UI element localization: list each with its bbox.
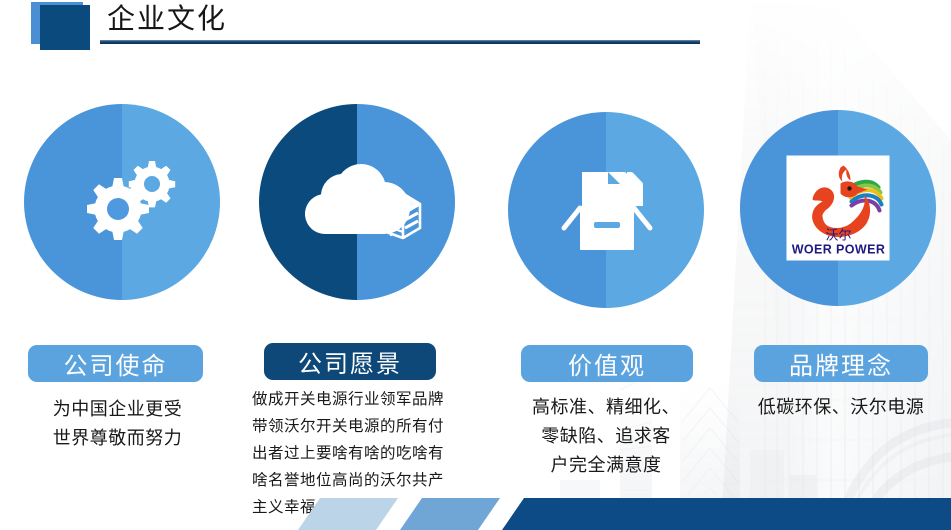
gears-icon: [24, 104, 220, 300]
logo-cn-text: 沃尔: [825, 227, 851, 242]
woer-power-logo-icon: 沃尔 WOER POWER: [787, 156, 890, 261]
archive-box-icon: [508, 112, 704, 308]
footer-segment-mid: [400, 498, 500, 530]
footer-segment-light: [298, 498, 398, 530]
body-text-brand: 低碳环保、沃尔电源: [735, 393, 947, 422]
footer-decoration: [0, 490, 951, 530]
body-line: 世界尊敬而努力: [10, 424, 225, 453]
page-title: 企业文化: [107, 3, 227, 37]
badge-vision[interactable]: 公司愿景: [264, 343, 436, 380]
cloud-building-icon: [259, 104, 455, 300]
badge-values[interactable]: 价值观: [521, 345, 693, 382]
body-line: 低碳环保、沃尔电源: [735, 393, 947, 422]
slide-canvas: 企业文化 公司使命 为中国企业更受 世界尊敬而努力: [0, 0, 951, 530]
card-circle-mission[interactable]: [24, 104, 220, 300]
card-circle-brand[interactable]: 沃尔 WOER POWER: [740, 110, 936, 306]
title-underline: [100, 40, 700, 44]
body-line: 高标准、精细化、: [500, 393, 712, 422]
body-line: 为中国企业更受: [10, 395, 225, 424]
body-line: 户完全满意度: [500, 451, 712, 480]
badge-brand[interactable]: 品牌理念: [754, 345, 928, 382]
body-line: 零缺陷、追求客: [500, 422, 712, 451]
body-line: 做成开关电源行业领军品牌: [252, 386, 457, 413]
body-line: 出者过上要啥有啥的吃啥有: [252, 440, 457, 467]
card-circle-values[interactable]: [508, 112, 704, 308]
logo-en-text: WOER POWER: [791, 242, 885, 256]
body-text-values: 高标准、精细化、 零缺陷、追求客 户完全满意度: [500, 393, 712, 480]
badge-mission[interactable]: 公司使命: [28, 345, 203, 382]
footer-segment-dark: [502, 498, 951, 530]
card-circle-vision[interactable]: [259, 104, 455, 300]
header-accent-square-front: [40, 5, 90, 50]
body-line: 带领沃尔开关电源的所有付: [252, 413, 457, 440]
body-text-mission: 为中国企业更受 世界尊敬而努力: [10, 395, 225, 453]
